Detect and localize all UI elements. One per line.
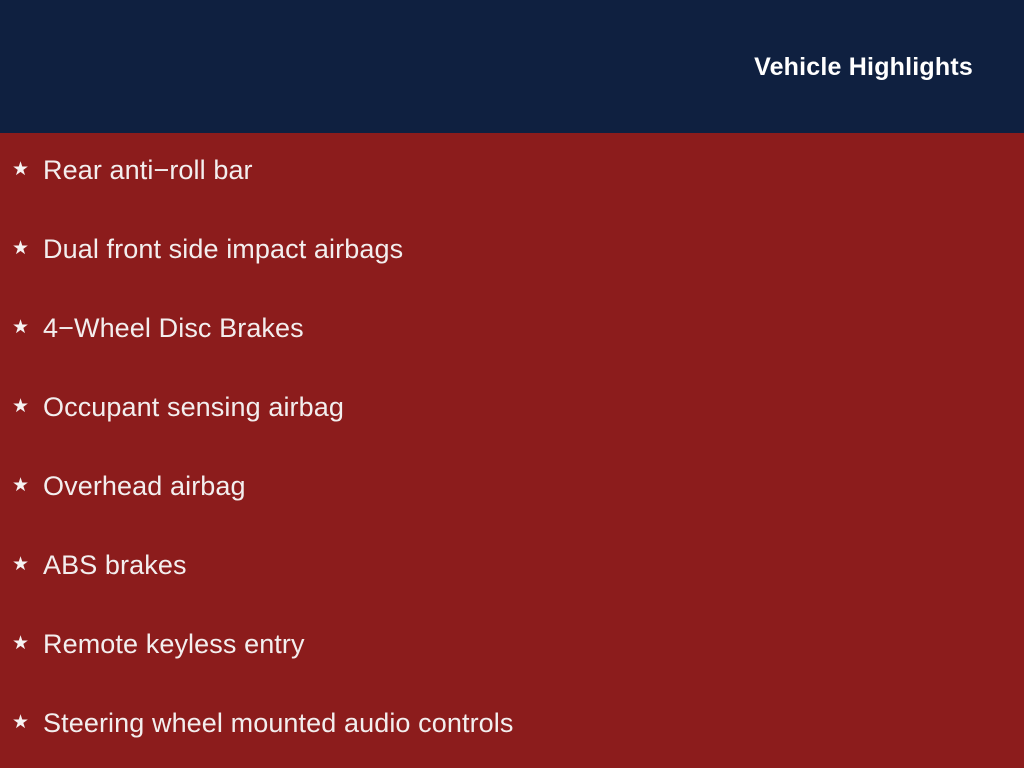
highlight-label: Occupant sensing airbag [43,394,344,421]
highlight-label: Remote keyless entry [43,631,305,658]
star-bullet-icon: ★ [12,318,43,337]
highlights-body: ★Rear anti−roll bar★Dual front side impa… [0,133,1024,768]
highlight-label: Rear anti−roll bar [43,157,253,184]
star-bullet-icon: ★ [12,476,43,495]
page-title: Vehicle Highlights [754,55,973,80]
star-bullet-icon: ★ [12,239,43,258]
list-item: ★Rear anti−roll bar [12,150,253,190]
star-bullet-icon: ★ [12,634,43,653]
highlight-label: 4−Wheel Disc Brakes [43,315,304,342]
list-item: ★4−Wheel Disc Brakes [12,308,304,348]
list-item: ★Overhead airbag [12,466,246,506]
star-bullet-icon: ★ [12,713,43,732]
slide-header-band: Vehicle Highlights [0,0,1024,133]
highlight-label: Steering wheel mounted audio controls [43,710,514,737]
list-item: ★ABS brakes [12,545,187,585]
vehicle-highlights-slide: Vehicle Highlights ★Rear anti−roll bar★D… [0,0,1024,768]
highlight-label: Dual front side impact airbags [43,236,403,263]
list-item: ★Remote keyless entry [12,624,305,664]
list-item: ★Steering wheel mounted audio controls [12,703,514,743]
highlight-label: ABS brakes [43,552,187,579]
star-bullet-icon: ★ [12,160,43,179]
list-item: ★Dual front side impact airbags [12,229,403,269]
list-item: ★Occupant sensing airbag [12,387,344,427]
star-bullet-icon: ★ [12,555,43,574]
highlight-label: Overhead airbag [43,473,246,500]
star-bullet-icon: ★ [12,397,43,416]
